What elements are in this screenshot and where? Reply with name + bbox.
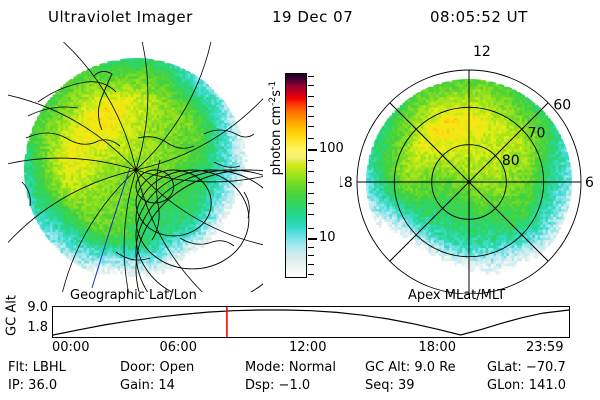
colorbar-minor-tick xyxy=(308,228,314,229)
status-gain: Gain: 14 xyxy=(120,378,175,393)
time-tick-1200: 12:00 xyxy=(289,340,326,355)
colorbar-axis-title: photon cm-2s-1 xyxy=(268,53,284,203)
time-tick-0000: 00:00 xyxy=(52,340,89,355)
colorbar-minor-tick xyxy=(308,274,314,275)
geographic-plot[interactable] xyxy=(8,42,263,292)
header-bar: Ultraviolet Imager 19 Dec 07 08:05:52 UT xyxy=(0,8,600,32)
mlat-label-80: 80 xyxy=(502,153,520,169)
colorbar-minor-tick xyxy=(308,96,314,97)
colorbar-unit-s-exp: -1 xyxy=(268,81,278,90)
colorbar-minor-tick xyxy=(308,85,314,86)
colorbar-minor-tick xyxy=(308,264,314,265)
colorbar-minor-tick xyxy=(308,138,314,139)
colorbar-minor-tick xyxy=(308,116,314,117)
apex-plot-canvas: 126018607080 xyxy=(340,42,598,294)
colorbar-minor-tick xyxy=(308,126,314,127)
status-dsp: Dsp: −1.0 xyxy=(245,378,310,393)
time-tick-0600: 06:00 xyxy=(160,340,197,355)
colorbar-major-tick xyxy=(308,149,317,151)
orbit-altitude-trace xyxy=(53,310,569,335)
colorbar-minor-tick xyxy=(308,214,314,215)
observation-date: 19 Dec 07 xyxy=(272,8,353,26)
status-footer: Flt: LBHL Door: Open Mode: Normal GC Alt… xyxy=(0,360,600,400)
mlat-label-60: 60 xyxy=(553,98,571,114)
status-gc-alt: GC Alt: 9.0 Re xyxy=(365,360,456,375)
time-tick-2359: 23:59 xyxy=(526,340,563,355)
colorbar-minor-tick xyxy=(308,160,314,161)
status-seq: Seq: 39 xyxy=(365,378,415,393)
mlat-label-70: 70 xyxy=(528,125,546,141)
colorbar-gradient xyxy=(285,73,307,278)
colorbar-unit-s: s xyxy=(269,90,284,97)
time-tick-1800: 18:00 xyxy=(419,340,456,355)
status-ip: IP: 36.0 xyxy=(8,378,57,393)
orbit-altitude-strip[interactable]: GC Alt 9.0 1.8 Geographic Lat/Lon Apex M… xyxy=(0,294,600,350)
orbit-y-min-label: 1.8 xyxy=(14,320,48,335)
status-filter: Flt: LBHL xyxy=(8,360,66,375)
colorbar-unit-exp: -2 xyxy=(268,97,278,106)
apex-plot-title: Apex MLat/MLT xyxy=(408,288,505,303)
orbit-trace-canvas xyxy=(53,307,569,337)
colorbar-minor-tick xyxy=(308,255,314,256)
colorbar-minor-tick xyxy=(308,106,314,107)
colorbar: photon cm-2s-1 10010 xyxy=(263,60,338,292)
status-door: Door: Open xyxy=(120,360,194,375)
mlt-label-18: 18 xyxy=(340,175,353,191)
colorbar-minor-tick xyxy=(308,247,314,248)
status-glat: GLat: −70.7 xyxy=(487,360,566,375)
colorbar-minor-tick xyxy=(308,76,314,77)
orbit-plot-box xyxy=(52,306,570,338)
colorbar-unit-base: photon cm xyxy=(269,106,284,176)
geo-plot-title: Geographic Lat/Lon xyxy=(70,288,197,303)
colorbar-minor-tick xyxy=(308,203,314,204)
status-mode: Mode: Normal xyxy=(245,360,336,375)
observation-time: 08:05:52 UT xyxy=(430,8,528,26)
instrument-title: Ultraviolet Imager xyxy=(48,8,193,26)
colorbar-minor-tick xyxy=(308,193,314,194)
apex-plot[interactable]: 126018607080 xyxy=(340,42,598,294)
colorbar-minor-tick xyxy=(308,182,314,183)
mlt-label-6: 6 xyxy=(585,175,594,191)
geographic-plot-canvas xyxy=(8,42,263,292)
mlt-label-12: 12 xyxy=(473,44,491,60)
orbit-y-max-label: 9.0 xyxy=(14,300,48,315)
colorbar-major-tick xyxy=(308,238,317,240)
colorbar-minor-tick xyxy=(308,171,314,172)
status-glon: GLon: 141.0 xyxy=(487,378,566,393)
colorbar-tick-label-1: 10 xyxy=(319,230,336,245)
